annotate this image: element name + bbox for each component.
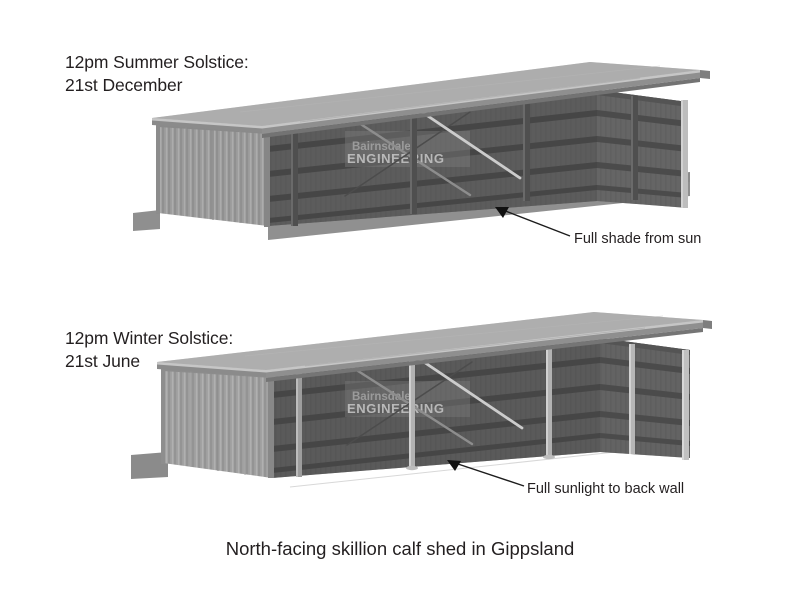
figure-caption: North-facing skillion calf shed in Gipps… <box>0 538 800 560</box>
winter-solstice-heading: 12pm Winter Solstice: 21st June <box>65 327 233 373</box>
diagram-root: Bairnsdale ENGINEERING <box>0 0 800 600</box>
summer-heading-line1: 12pm Summer Solstice: <box>65 52 249 72</box>
winter-heading-line1: 12pm Winter Solstice: <box>65 328 233 348</box>
summer-heading-line2: 21st December <box>65 75 182 95</box>
winter-callout-label: Full sunlight to back wall <box>527 481 684 497</box>
winter-end-wall <box>161 364 274 478</box>
winter-watermark: Bairnsdale ENGINEERING <box>345 381 470 417</box>
svg-text:ENGINEERING: ENGINEERING <box>347 401 445 416</box>
winter-return-wall <box>600 338 690 458</box>
summer-callout-label: Full shade from sun <box>574 231 701 247</box>
winter-heading-line2: 21st June <box>65 351 140 371</box>
summer-solstice-heading: 12pm Summer Solstice: 21st December <box>65 51 249 97</box>
